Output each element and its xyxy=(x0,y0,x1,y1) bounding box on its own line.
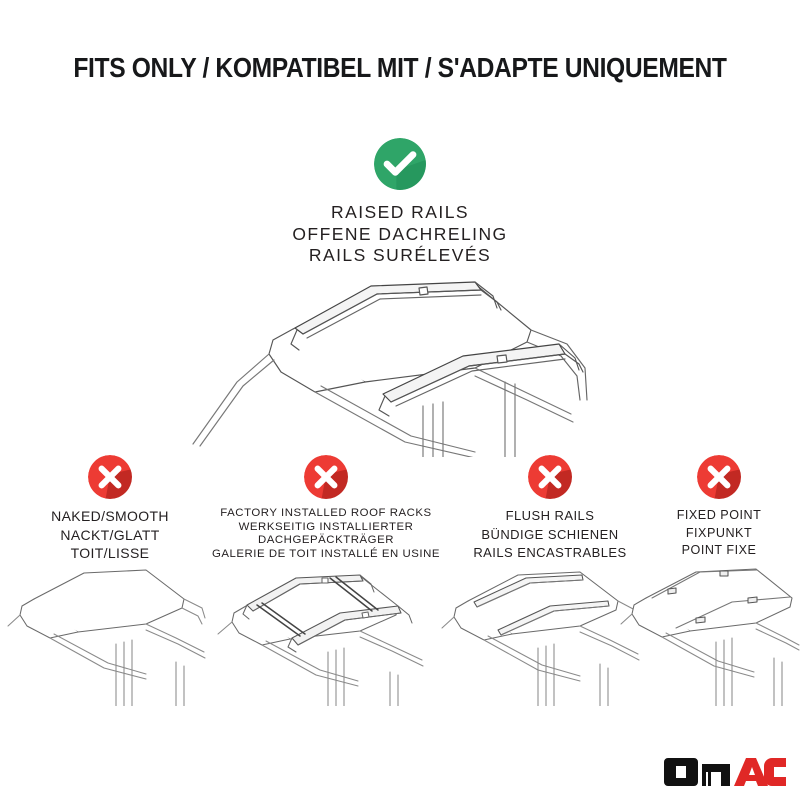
approved-label-line-1: RAISED RAILS xyxy=(0,202,800,224)
approved-labels: RAISED RAILS OFFENE DACHRELING RAILS SUR… xyxy=(0,202,800,267)
incompatible-illustrations-row xyxy=(0,556,800,706)
check-circle-icon xyxy=(374,138,426,190)
option-label-line-1: FLUSH RAILS xyxy=(455,507,645,526)
option-label-line-2: BÜNDIGE SCHIENEN xyxy=(455,526,645,545)
option-labels: NAKED/SMOOTH NACKT/GLATT TOIT/LISSE xyxy=(18,507,202,563)
omac-logo xyxy=(664,752,786,792)
option-naked-smooth: NAKED/SMOOTH NACKT/GLATT TOIT/LISSE xyxy=(18,455,202,563)
x-circle-icon xyxy=(88,455,132,499)
option-fixed-point: FIXED POINT FIXPUNKT POINT FIXE xyxy=(648,455,790,560)
option-labels: FACTORY INSTALLED ROOF RACKS WERKSEITIG … xyxy=(206,507,446,561)
option-label-line-3: DACHGEPÄCKTRÄGER xyxy=(206,534,446,548)
option-labels: FLUSH RAILS BÜNDIGE SCHIENEN RAILS ENCAS… xyxy=(455,507,645,563)
x-circle-icon xyxy=(304,455,348,499)
x-circle-icon xyxy=(528,455,572,499)
option-label-line-1: FACTORY INSTALLED ROOF RACKS xyxy=(206,507,446,521)
x-circle-icon xyxy=(697,455,741,499)
approved-label-line-3: RAILS SURÉLEVÉS xyxy=(0,245,800,267)
approved-label-line-2: OFFENE DACHRELING xyxy=(0,224,800,246)
option-factory-installed-roof-racks: FACTORY INSTALLED ROOF RACKS WERKSEITIG … xyxy=(206,455,446,561)
car-roof-with-raised-rails-illustration xyxy=(175,272,635,457)
option-label-line-2: WERKSEITIG INSTALLIERTER xyxy=(206,521,446,535)
car-roof-with-flush-rails-illustration xyxy=(440,556,640,711)
approved-section: RAISED RAILS OFFENE DACHRELING RAILS SUR… xyxy=(0,138,800,267)
option-label-line-1: NAKED/SMOOTH xyxy=(18,507,202,526)
option-flush-rails: FLUSH RAILS BÜNDIGE SCHIENEN RAILS ENCAS… xyxy=(455,455,645,563)
car-roof-with-factory-roof-rack-illustration xyxy=(212,556,424,711)
incompatible-options-row: NAKED/SMOOTH NACKT/GLATT TOIT/LISSE FACT… xyxy=(0,455,800,565)
car-roof-with-fixed-points-illustration xyxy=(620,556,800,711)
option-labels: FIXED POINT FIXPUNKT POINT FIXE xyxy=(648,507,790,560)
option-label-line-2: NACKT/GLATT xyxy=(18,526,202,545)
page-title: FITS ONLY / KOMPATIBEL MIT / S'ADAPTE UN… xyxy=(42,52,758,84)
car-roof-naked-smooth-illustration xyxy=(6,556,206,711)
option-label-line-2: FIXPUNKT xyxy=(648,525,790,543)
option-label-line-1: FIXED POINT xyxy=(648,507,790,525)
